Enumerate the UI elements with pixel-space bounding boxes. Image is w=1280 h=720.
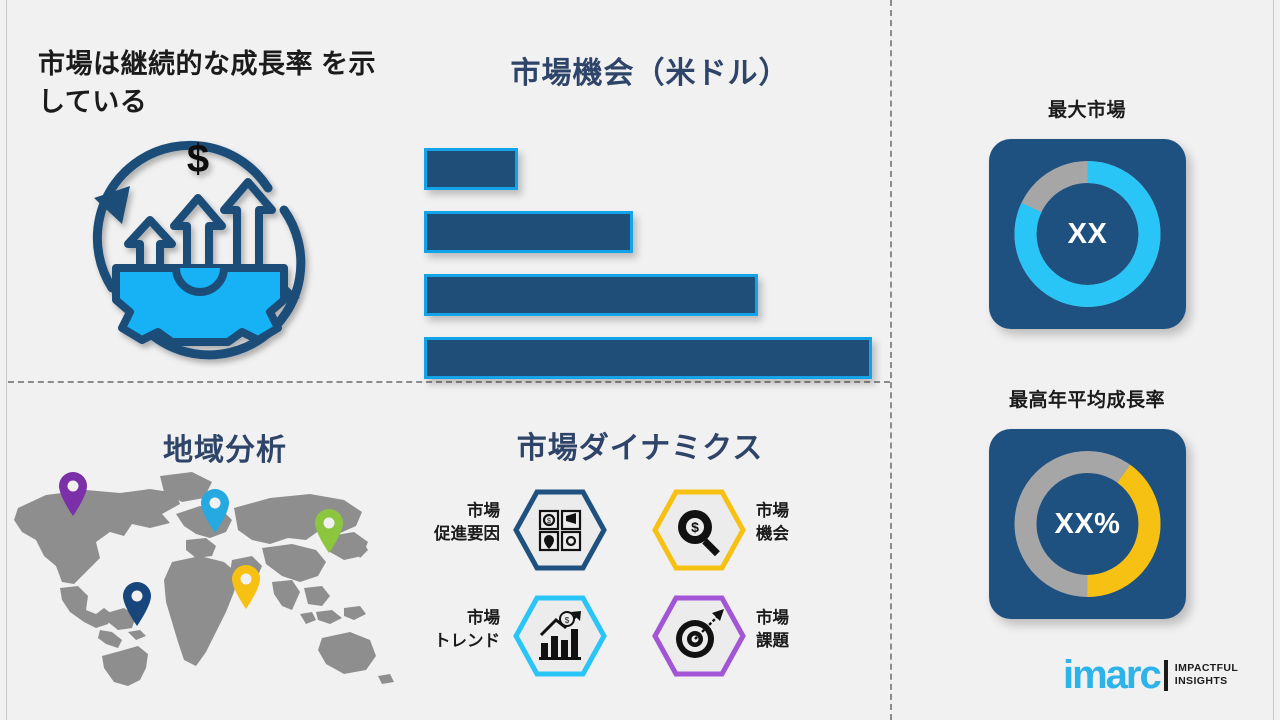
highest-cagr-title: 最高年平均成長率 bbox=[942, 385, 1232, 412]
magnifier-dollar-icon: $ bbox=[652, 489, 746, 571]
highest-cagr-card: XX% bbox=[989, 429, 1186, 619]
pin-europe[interactable] bbox=[197, 487, 233, 537]
logo-separator bbox=[1164, 660, 1168, 691]
svg-text:$: $ bbox=[691, 519, 699, 535]
growth-panel-title: 市場は継続的な成長率 を示している bbox=[38, 45, 398, 122]
pin-east-asia[interactable] bbox=[311, 507, 347, 557]
largest-market-title: 最大市場 bbox=[942, 95, 1232, 122]
growth-gear-icon: $ bbox=[72, 128, 322, 368]
horizontal-divider bbox=[8, 381, 890, 383]
svg-text:$: $ bbox=[547, 518, 551, 525]
opportunity-bar-1 bbox=[424, 148, 518, 190]
pin-north-america[interactable] bbox=[55, 470, 91, 520]
opportunity-bar-2 bbox=[424, 211, 633, 253]
vertical-divider bbox=[890, 0, 892, 720]
imarc-logo[interactable]: imarc IMPACTFUL INSIGHTS bbox=[1063, 655, 1238, 695]
highest-cagr-value: XX% bbox=[989, 429, 1186, 619]
dynamics-item-drivers-label: 市場 促進要因 bbox=[410, 500, 500, 546]
opportunity-bar-4 bbox=[424, 337, 872, 379]
pin-middle-east[interactable] bbox=[228, 563, 264, 613]
slide-canvas: 市場は継続的な成長率 を示している $ 市場機会（米 bbox=[0, 0, 1280, 720]
logo-tagline: IMPACTFUL INSIGHTS bbox=[1175, 662, 1238, 688]
opportunity-panel-title: 市場機会（米ドル） bbox=[420, 48, 880, 92]
svg-text:$: $ bbox=[565, 616, 570, 625]
svg-text:$: $ bbox=[187, 137, 209, 181]
largest-market-card: XX bbox=[989, 139, 1186, 329]
puzzle-pieces-icon: $ bbox=[513, 489, 607, 571]
pin-south-america[interactable] bbox=[119, 580, 155, 630]
dynamics-item-challenges-label: 市場 課題 bbox=[756, 607, 852, 653]
right-edge-rule bbox=[1273, 0, 1274, 720]
largest-market-value: XX bbox=[989, 139, 1186, 329]
logo-wordmark: imarc bbox=[1063, 655, 1160, 695]
dynamics-item-trends-label: 市場 トレンド bbox=[404, 607, 500, 653]
target-dart-icon bbox=[652, 595, 746, 677]
bar-chart-arrow-icon: $ bbox=[513, 595, 607, 677]
dynamics-item-opportunities-label: 市場 機会 bbox=[756, 500, 846, 546]
dynamics-panel-title: 市場ダイナミクス bbox=[410, 423, 870, 467]
opportunity-bar-3 bbox=[424, 274, 758, 316]
